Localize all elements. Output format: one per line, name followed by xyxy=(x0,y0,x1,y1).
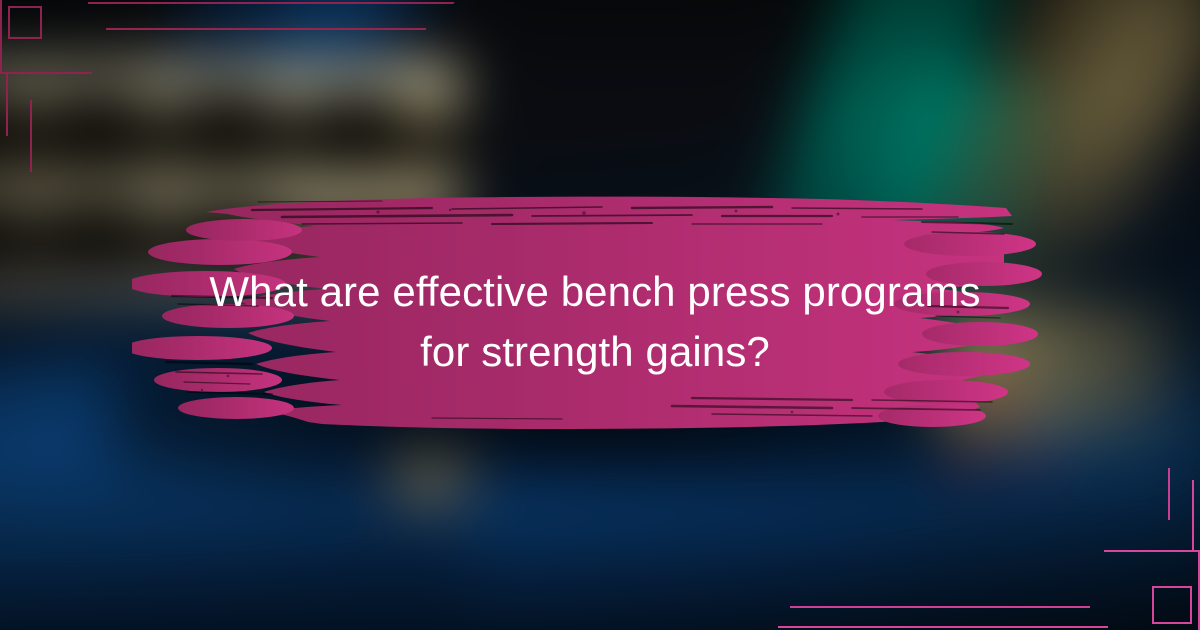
corner-tick-left-outer xyxy=(6,72,8,136)
social-share-card: What are effective bench press programs … xyxy=(0,0,1200,630)
corner-line-long-bottom xyxy=(778,626,1108,628)
corner-line-short-bottom xyxy=(790,606,1090,608)
corner-line-taper-top xyxy=(437,2,455,4)
corner-tick-left-inner xyxy=(30,100,32,172)
corner-line-short-top xyxy=(106,28,426,30)
corner-frame-top-left xyxy=(0,0,180,140)
corner-elbow-bottom-right xyxy=(1104,550,1200,630)
corner-frame-bottom-right xyxy=(1010,470,1200,630)
corner-line-long-top xyxy=(88,2,448,4)
corner-tick-right-outer xyxy=(1192,480,1194,552)
card-headline: What are effective bench press programs … xyxy=(150,262,1040,382)
corner-elbow-top-left xyxy=(0,0,92,74)
corner-tick-right-inner xyxy=(1168,468,1170,520)
